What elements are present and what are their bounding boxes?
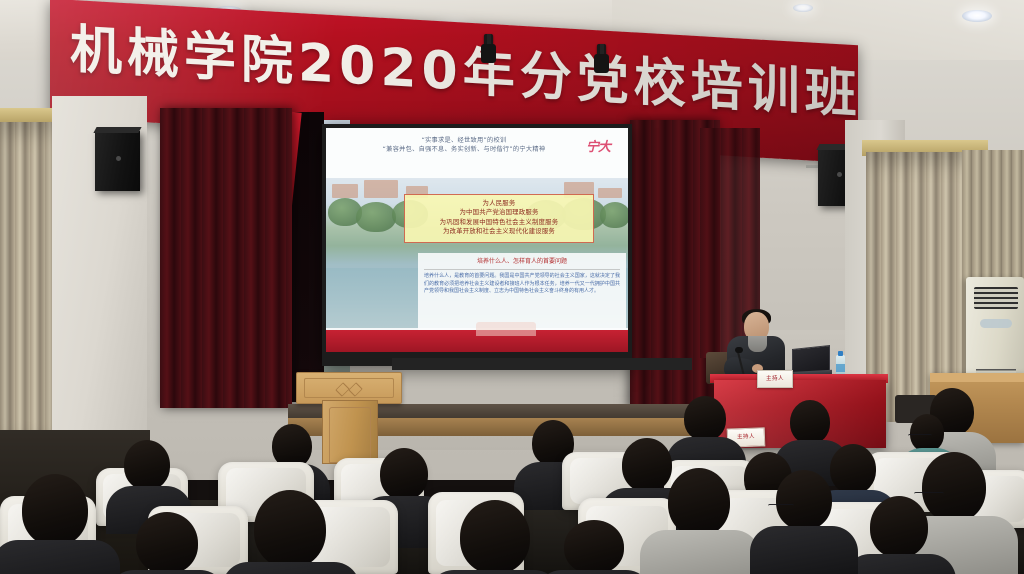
ceiling-light-icon	[793, 4, 813, 12]
window-curtain-left	[0, 122, 56, 432]
spotlight-icon	[597, 44, 606, 56]
slide-card-body: 培养什么人，是教育的首要问题。我国是中国共产党领导的社会主义国家，这就决定了我们…	[424, 273, 620, 296]
slide-surface: “实事求是、经世致用”的校训 “兼容并包、自强不息、务实创新、与时偕行”的宁大精…	[326, 128, 628, 352]
highlight-line: 为巩固和发展中国特色社会主义制度服务	[409, 218, 589, 227]
slide-motto-line1: “实事求是、经世致用”的校训	[344, 136, 584, 145]
presenter-collar	[748, 336, 767, 352]
slide-highlight-box: 为人民服务 为中国共产党治国理政服务 为巩固和发展中国特色社会主义制度服务 为改…	[404, 194, 594, 243]
screen-bottom-bar	[392, 358, 692, 370]
highlight-line: 为人民服务	[409, 199, 589, 208]
slide-motto: “实事求是、经世致用”的校训 “兼容并包、自强不息、务实创新、与时偕行”的宁大精…	[344, 136, 584, 154]
highlight-line: 为中国共产党治国理政服务	[409, 208, 589, 217]
lecture-hall-photo: 机械学院2020年分党校培训班	[0, 0, 1024, 574]
slide-text-card: 培养什么人、怎样育人的首要问题 培养什么人，是教育的首要问题。我国是中国共产党领…	[418, 253, 626, 331]
podium-base	[322, 400, 378, 464]
podium-diamond-ornament	[336, 384, 362, 393]
microphone-icon	[735, 347, 743, 353]
ceiling-light-icon	[962, 10, 992, 22]
highlight-line: 为改革开放和社会主义现代化建设服务	[409, 227, 589, 236]
stage-curtain-left	[160, 108, 292, 408]
slide-footer-band	[326, 330, 628, 352]
wall-speaker-icon	[95, 131, 140, 191]
spotlight-icon	[484, 34, 493, 46]
projection-screen: “实事求是、经世致用”的校训 “兼容并包、自强不息、务实创新、与时偕行”的宁大精…	[322, 124, 632, 366]
slide-motto-line2: “兼容并包、自强不息、务实创新、与时偕行”的宁大精神	[344, 145, 584, 154]
presenter-name-placard: 主持人	[757, 370, 793, 388]
slide-card-title: 培养什么人、怎样育人的首要问题	[424, 257, 620, 270]
university-logo-icon: 宁大	[576, 137, 620, 159]
